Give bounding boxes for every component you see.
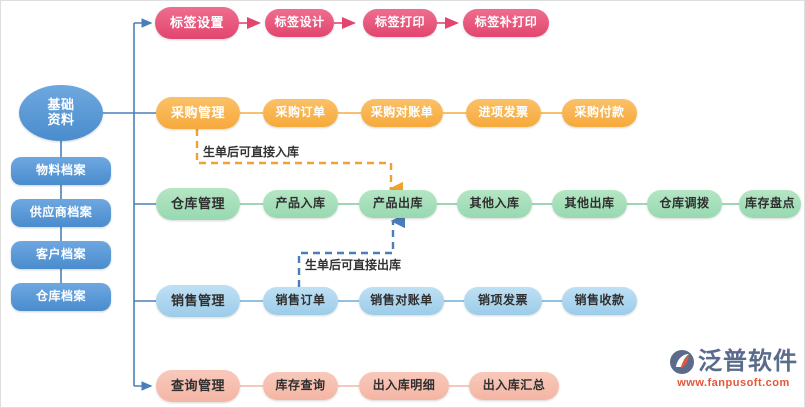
row-head-warehouse[interactable]: 仓库管理	[156, 188, 240, 220]
sidebar-item-customer[interactable]: 客户档案	[11, 241, 111, 269]
row-item-purchase-2[interactable]: 采购对账单	[361, 99, 443, 127]
row-head-query[interactable]: 查询管理	[156, 370, 240, 402]
row-item-query-3[interactable]: 出入库汇总	[469, 372, 559, 400]
note-purchase-to-stockin: 生单后可直接入库	[203, 143, 299, 160]
node-label: 采购对账单	[371, 106, 434, 120]
row-item-query-1[interactable]: 库存查询	[263, 372, 338, 400]
row-item-warehouse-2[interactable]: 产品出库	[359, 190, 437, 218]
row-item-purchase-4[interactable]: 采购付款	[562, 99, 637, 127]
sidebar-item-label: 物料档案	[36, 164, 86, 178]
node-label: 标签设计	[274, 16, 324, 30]
sidebar-item-material[interactable]: 物料档案	[11, 157, 111, 185]
logo-mark-row: 泛普软件	[669, 349, 798, 375]
fanpu-swoosh-icon	[669, 349, 695, 375]
node-label: 其他出库	[564, 197, 614, 211]
logo-brand-text: 泛普软件	[698, 350, 798, 374]
node-label: 仓库调拨	[659, 197, 709, 211]
row-item-purchase-1[interactable]: 采购订单	[263, 99, 338, 127]
sidebar-item-label: 客户档案	[36, 248, 86, 262]
row-item-label-3[interactable]: 标签补打印	[463, 9, 549, 37]
node-label: 标签设置	[170, 16, 224, 31]
diagram-canvas: 基础 资料 物料档案 供应商档案 客户档案 仓库档案 标签设置 标签设计 标签打…	[0, 0, 805, 408]
sidebar-item-label: 仓库档案	[36, 290, 86, 304]
note-label: 生单后可直接出库	[305, 258, 401, 272]
row-item-query-2[interactable]: 出入库明细	[359, 372, 449, 400]
row-item-purchase-3[interactable]: 进项发票	[466, 99, 541, 127]
node-label: 采购订单	[275, 106, 325, 120]
node-label: 销售收款	[574, 294, 624, 308]
brand-logo: 泛普软件 www.fanpusoft.com	[669, 349, 798, 389]
row-item-sales-2[interactable]: 销售对账单	[359, 287, 444, 315]
node-label: 库存查询	[275, 379, 325, 393]
row-item-warehouse-1[interactable]: 产品入库	[263, 190, 338, 218]
node-label: 标签补打印	[475, 16, 538, 30]
row-item-warehouse-3[interactable]: 其他入库	[457, 190, 532, 218]
node-label: 仓库管理	[171, 197, 225, 212]
row-item-label-2[interactable]: 标签打印	[363, 9, 437, 37]
node-label: 进项发票	[478, 106, 528, 120]
row-item-sales-1[interactable]: 销售订单	[263, 287, 338, 315]
node-label: 其他入库	[469, 197, 519, 211]
node-label: 产品入库	[275, 197, 325, 211]
node-label: 标签打印	[375, 16, 425, 30]
node-label: 采购付款	[574, 106, 624, 120]
note-label: 生单后可直接入库	[203, 145, 299, 159]
row-head-sales[interactable]: 销售管理	[156, 285, 240, 317]
row-head-label[interactable]: 标签设置	[155, 7, 239, 39]
row-item-warehouse-6[interactable]: 库存盘点	[739, 190, 801, 218]
logo-url-text: www.fanpusoft.com	[677, 377, 790, 389]
node-label: 查询管理	[171, 379, 225, 394]
sidebar-item-warehouse[interactable]: 仓库档案	[11, 283, 111, 311]
sidebar-item-supplier[interactable]: 供应商档案	[11, 199, 111, 227]
node-label: 销售对账单	[370, 294, 433, 308]
node-label: 销售管理	[171, 294, 225, 309]
sidebar-root-line1: 基础	[47, 98, 74, 113]
row-item-sales-4[interactable]: 销售收款	[562, 287, 637, 315]
node-label: 库存盘点	[745, 197, 795, 211]
node-label: 出入库汇总	[483, 379, 546, 393]
row-item-warehouse-4[interactable]: 其他出库	[552, 190, 627, 218]
note-sales-to-stockout: 生单后可直接出库	[305, 256, 401, 273]
sidebar-item-label: 供应商档案	[30, 206, 93, 220]
sidebar-root-line2: 资料	[47, 113, 74, 128]
row-item-label-1[interactable]: 标签设计	[265, 9, 334, 37]
node-label: 产品出库	[373, 197, 423, 211]
row-item-warehouse-5[interactable]: 仓库调拨	[647, 190, 722, 218]
node-label: 销售订单	[275, 294, 325, 308]
row-head-purchase[interactable]: 采购管理	[156, 97, 240, 129]
node-label: 销项发票	[478, 294, 528, 308]
node-label: 采购管理	[171, 106, 225, 121]
node-label: 出入库明细	[373, 379, 436, 393]
sidebar-root-基础资料[interactable]: 基础 资料	[19, 85, 103, 141]
row-item-sales-3[interactable]: 销项发票	[464, 287, 542, 315]
